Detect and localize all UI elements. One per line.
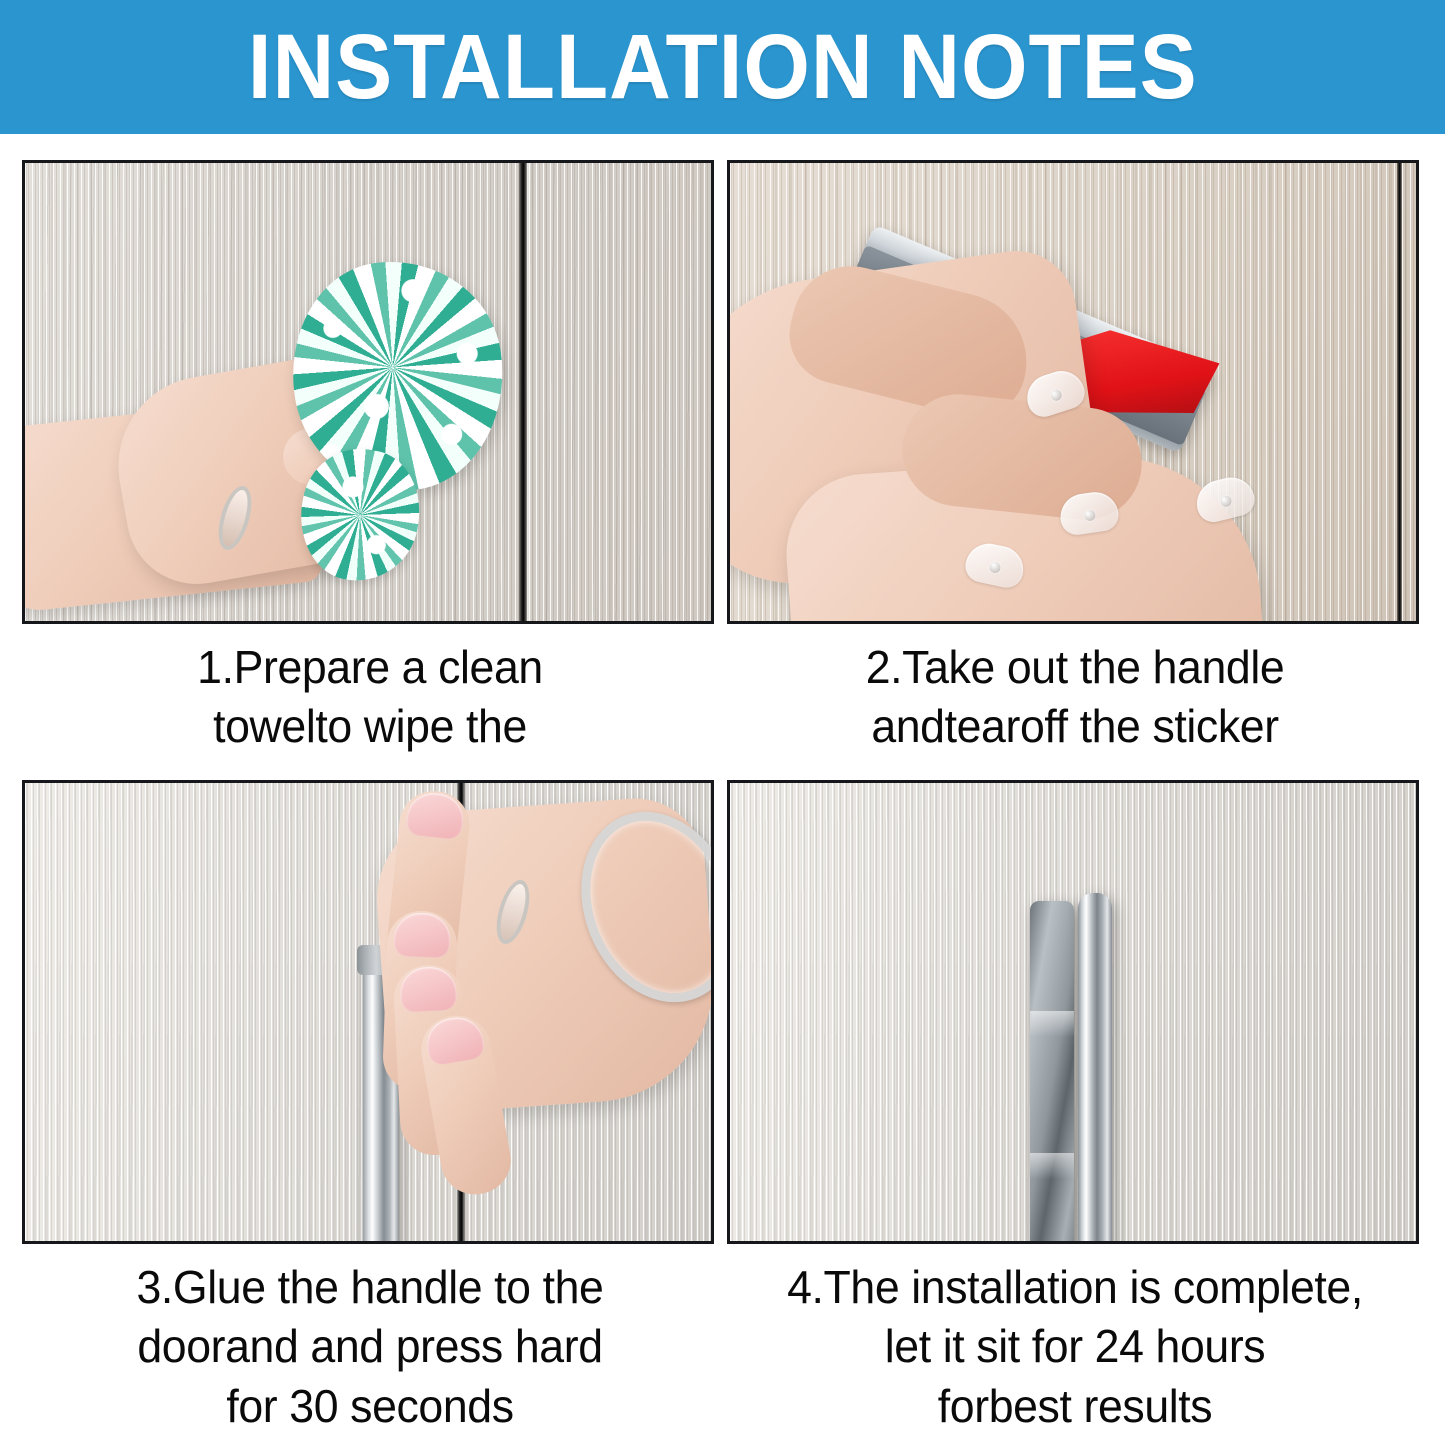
fingernail xyxy=(394,912,452,958)
step-3-photo xyxy=(22,780,714,1244)
steps-grid: 1.Prepare a clean towelto wipe the xyxy=(0,134,1445,1445)
step-1: 1.Prepare a clean towelto wipe the xyxy=(22,160,718,757)
step-3: 3.Glue the handle to the doorand and pre… xyxy=(22,780,718,1436)
handle-bar xyxy=(1078,893,1112,1244)
seam-highlight xyxy=(527,163,531,621)
page-title: INSTALLATION NOTES xyxy=(248,21,1198,113)
step-2: 2.Take out the handle andtearoff the sti… xyxy=(727,160,1423,757)
step-4-photo xyxy=(727,780,1419,1244)
step-2-caption: 2.Take out the handle andtearoff the sti… xyxy=(737,638,1412,757)
header-banner: INSTALLATION NOTES xyxy=(0,0,1445,134)
step-3-caption: 3.Glue the handle to the doorand and pre… xyxy=(32,1258,707,1436)
door-seam xyxy=(1397,163,1402,621)
step-2-photo xyxy=(727,160,1419,624)
step-1-caption: 1.Prepare a clean towelto wipe the xyxy=(32,638,707,757)
step-1-photo xyxy=(22,160,714,624)
step-4-caption: 4.The installation is complete, let it s… xyxy=(737,1258,1412,1436)
handle-backplate xyxy=(1030,901,1074,1244)
fingernail xyxy=(399,966,457,1013)
installation-notes-infographic: INSTALLATION NOTES 1.Prepare a clean tow… xyxy=(0,0,1445,1445)
step-4: 4.The installation is complete, let it s… xyxy=(727,780,1423,1436)
fingernail xyxy=(405,791,465,841)
door-seam xyxy=(519,163,527,621)
